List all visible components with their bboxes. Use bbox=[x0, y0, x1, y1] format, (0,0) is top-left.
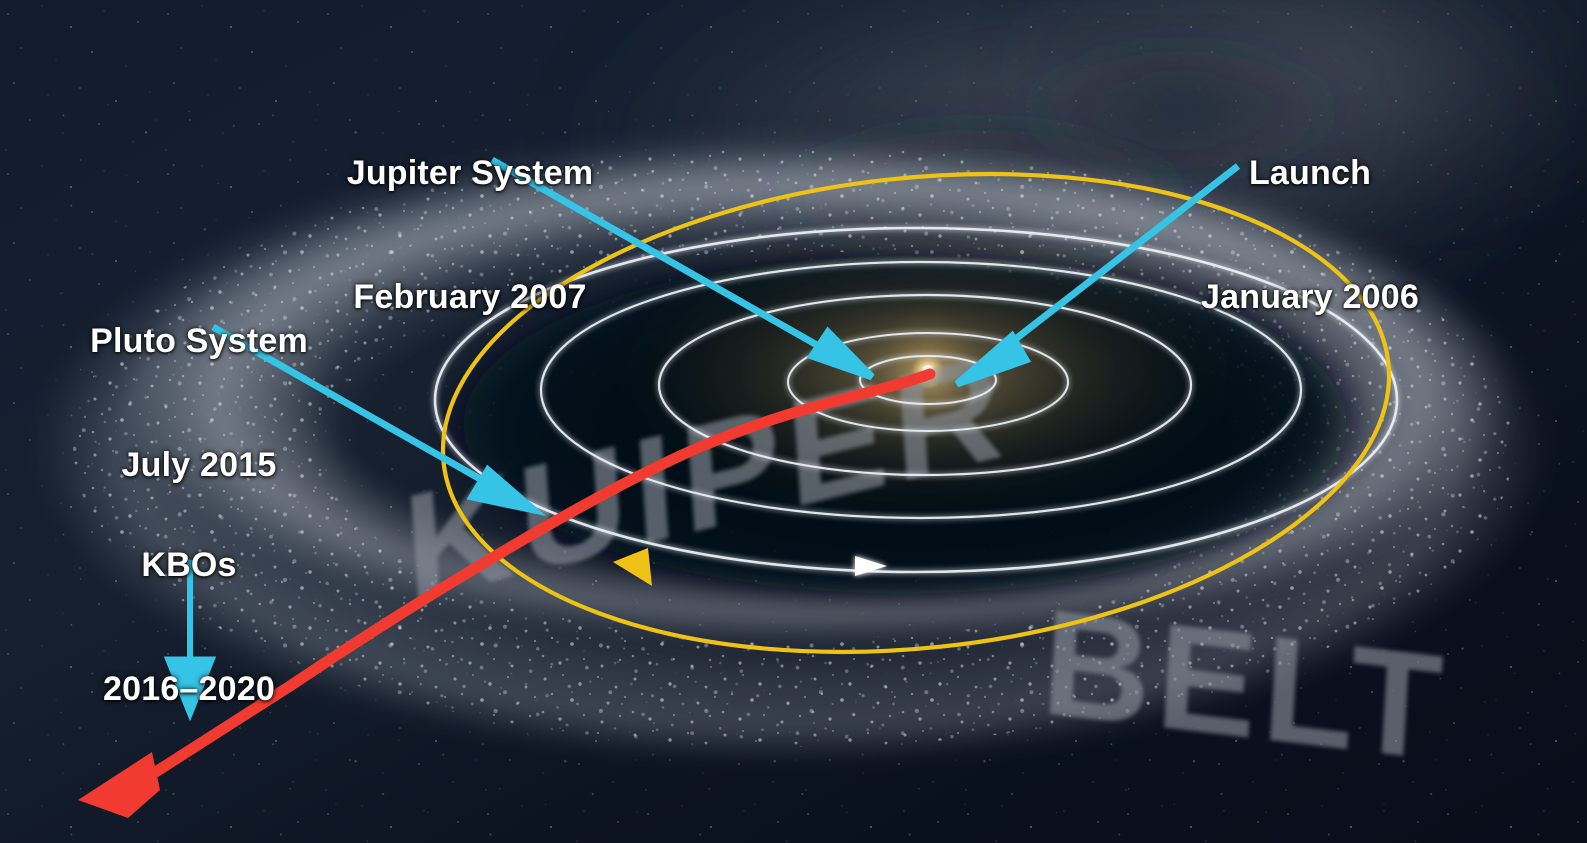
space-illustration: KUIPER BELT bbox=[0, 0, 1587, 843]
white-orbit-direction-marker bbox=[855, 556, 887, 576]
yellow-orbit-direction-marker bbox=[613, 548, 652, 586]
pluto-arrow bbox=[213, 327, 534, 510]
pluto-orbit bbox=[419, 130, 1413, 697]
kbos-arrow bbox=[169, 560, 211, 712]
orbits-and-annotations-layer bbox=[0, 0, 1587, 843]
inner-planet-orbit-4 bbox=[541, 262, 1301, 518]
outer-planet-orbit-neptune bbox=[435, 228, 1397, 572]
planet-orbits bbox=[435, 228, 1397, 572]
trajectory-arrowhead bbox=[78, 752, 160, 818]
new-horizons-trajectory bbox=[78, 374, 930, 818]
launch-arrow bbox=[957, 166, 1238, 384]
inner-planet-orbit-3 bbox=[659, 295, 1191, 475]
